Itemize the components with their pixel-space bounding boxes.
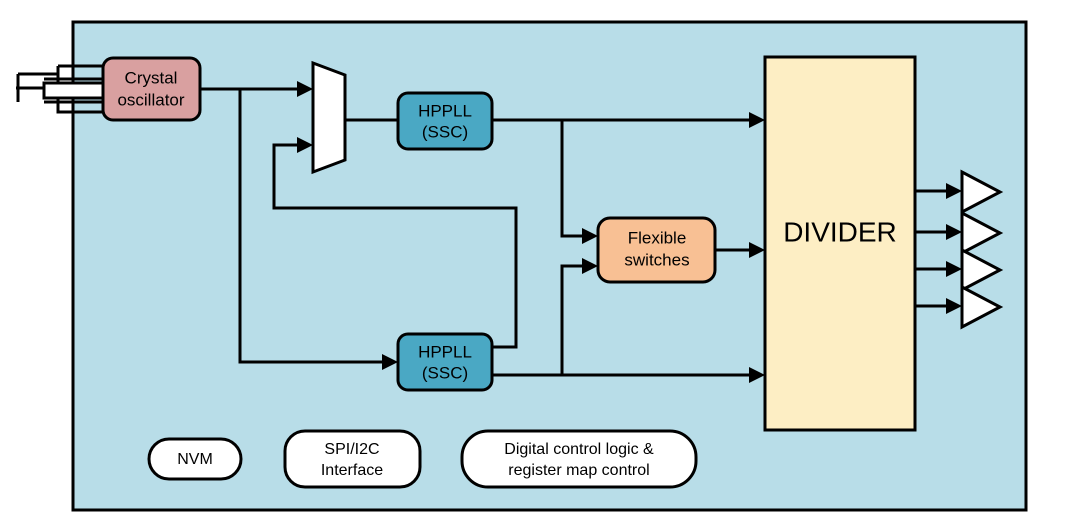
hppll-ssc-top-block[interactable]: HPPLL (SSC) xyxy=(398,93,492,149)
digital-control-logic-label-line1: Digital control logic & xyxy=(504,441,654,458)
input-mux[interactable] xyxy=(313,63,345,172)
flexible-switches-block[interactable]: Flexible switches xyxy=(598,218,715,282)
divider-block[interactable]: DIVIDER xyxy=(765,57,915,430)
digital-control-logic-label-line2: register map control xyxy=(508,462,649,479)
spi-i2c-interface-label-line1: SPI/I2C xyxy=(324,441,379,458)
hppll-ssc-bottom-label-line2: (SSC) xyxy=(422,363,468,382)
nvm-block[interactable]: NVM xyxy=(149,439,241,479)
hppll-ssc-top-label-line1: HPPLL xyxy=(418,101,472,120)
flexible-switches-label-line2: switches xyxy=(624,250,689,269)
digital-control-logic-block[interactable]: Digital control logic & register map con… xyxy=(462,431,696,487)
flexible-switches-label-line1: Flexible xyxy=(628,228,687,247)
spi-i2c-interface-label-line2: Interface xyxy=(321,462,383,479)
hppll-ssc-bottom-label-line1: HPPLL xyxy=(418,342,472,361)
crystal-oscillator-block[interactable]: Crystal oscillator xyxy=(103,58,200,120)
crystal-oscillator-label-line2: oscillator xyxy=(117,90,184,109)
spi-i2c-interface-block[interactable]: SPI/I2C Interface xyxy=(285,431,420,487)
hppll-ssc-bottom-block[interactable]: HPPLL (SSC) xyxy=(398,334,492,390)
nvm-label: NVM xyxy=(177,451,213,468)
block-diagram: DIVIDER Crystal oscillator HPPLL xyxy=(0,0,1067,530)
hppll-ssc-top-label-line2: (SSC) xyxy=(422,122,468,141)
diagram-canvas: DIVIDER Crystal oscillator HPPLL xyxy=(0,0,1067,530)
crystal-oscillator-label-line1: Crystal xyxy=(125,68,178,87)
divider-label: DIVIDER xyxy=(783,216,897,247)
